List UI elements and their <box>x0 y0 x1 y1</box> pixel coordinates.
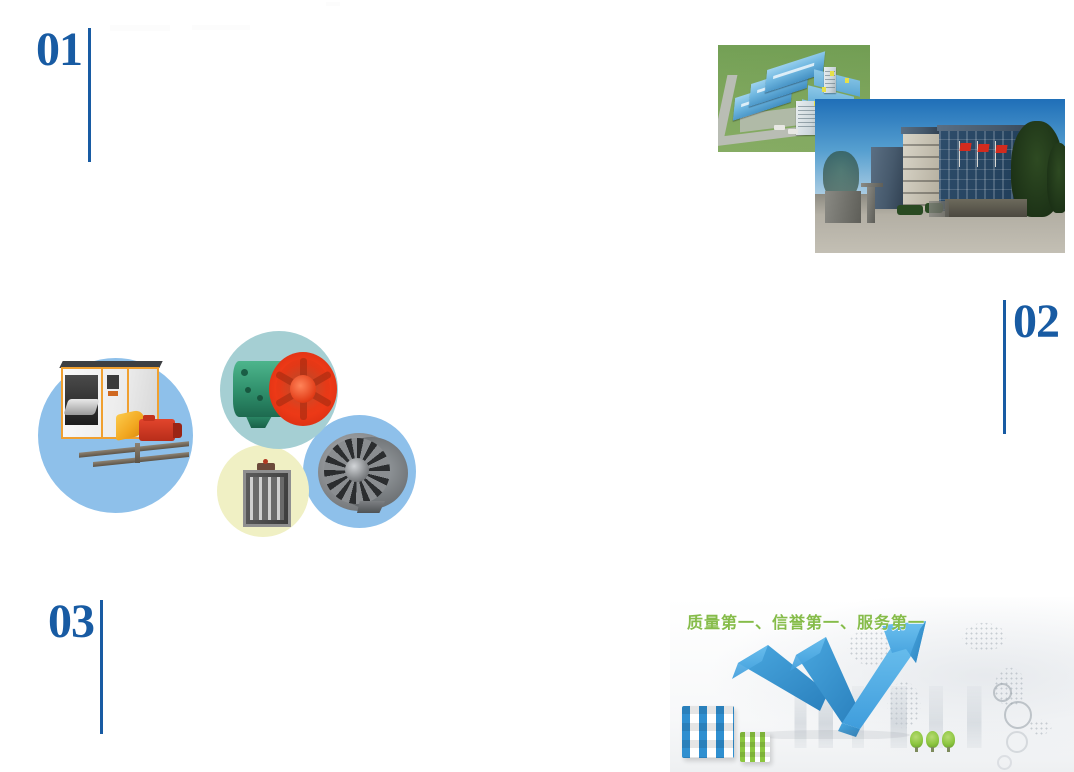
office-gate-pillar <box>867 185 875 223</box>
office-building-image <box>815 99 1065 253</box>
centrifugal-fan-control-label <box>108 391 118 396</box>
product-collage <box>35 325 435 555</box>
bubble-ring-1 <box>993 683 1012 702</box>
section-marker-01: 01 <box>36 26 91 162</box>
office-shrub-1 <box>897 205 923 215</box>
blue-cube-icon <box>682 706 734 758</box>
bubble-ring-2 <box>1004 701 1032 729</box>
top-artifact-2 <box>192 25 250 30</box>
red-flag-3 <box>995 145 1007 153</box>
axial-fan-hub <box>290 375 316 403</box>
office-gate-beam <box>861 183 883 187</box>
centrifugal-fan-motor <box>139 419 175 441</box>
green-cube-icon <box>740 732 770 762</box>
tree-group-icon <box>910 731 955 748</box>
office-block-left <box>871 147 905 209</box>
centrifugal-fan-panel-seam-1 <box>101 369 103 437</box>
bubble-ring-3 <box>1006 731 1028 753</box>
tree-icon-1 <box>910 731 923 748</box>
tree-icon-2 <box>926 731 939 748</box>
section-marker-02: 02 <box>1003 298 1059 434</box>
bubble-ring-4 <box>997 755 1012 770</box>
office-perimeter-wall <box>945 199 1027 217</box>
damper-blades <box>250 477 284 520</box>
section-rule-03 <box>100 600 103 734</box>
aerial-marker-2 <box>822 87 826 92</box>
section-number-03: 03 <box>48 598 94 646</box>
damper-frame <box>243 470 291 527</box>
top-artifact-1 <box>110 25 170 31</box>
poster-canvas: 01 02 03 <box>0 0 1074 772</box>
axial-fan-port-1 <box>245 387 251 393</box>
aerial-vehicle-1 <box>774 125 785 130</box>
axial-fan-port-2 <box>257 395 263 401</box>
section-rule-02 <box>1003 300 1006 434</box>
office-roof-center <box>901 127 941 134</box>
growth-banner-image: 质量第一、信誉第一、服务第一 <box>670 597 1074 772</box>
centrifugal-fan-base-cross <box>135 443 140 463</box>
office-tree-far-right <box>1047 143 1065 213</box>
red-flag-1 <box>959 143 971 151</box>
banner-slogan-text: 质量第一、信誉第一、服务第一 <box>687 609 925 633</box>
top-artifact-3 <box>326 2 340 6</box>
office-gate-house <box>825 191 861 223</box>
centrifugal-fan-motor-end-cap <box>173 423 182 438</box>
upward-arrow-icon <box>710 619 950 739</box>
section-rule-01 <box>88 28 91 162</box>
aerial-vehicle-2 <box>788 129 798 134</box>
office-vehicle <box>929 201 949 217</box>
section-number-01: 01 <box>36 26 82 74</box>
metal-fan-hub <box>345 458 369 482</box>
red-flag-2 <box>977 144 989 152</box>
office-wall-center <box>903 132 939 210</box>
centrifugal-fan-impeller <box>63 399 99 415</box>
section-marker-03: 03 <box>48 598 103 734</box>
tree-icon-3 <box>942 731 955 748</box>
aerial-marker-1 <box>830 71 834 76</box>
section-number-02: 02 <box>1013 298 1059 346</box>
aerial-marker-4 <box>845 78 849 83</box>
centrifugal-fan-control-box <box>107 375 119 389</box>
